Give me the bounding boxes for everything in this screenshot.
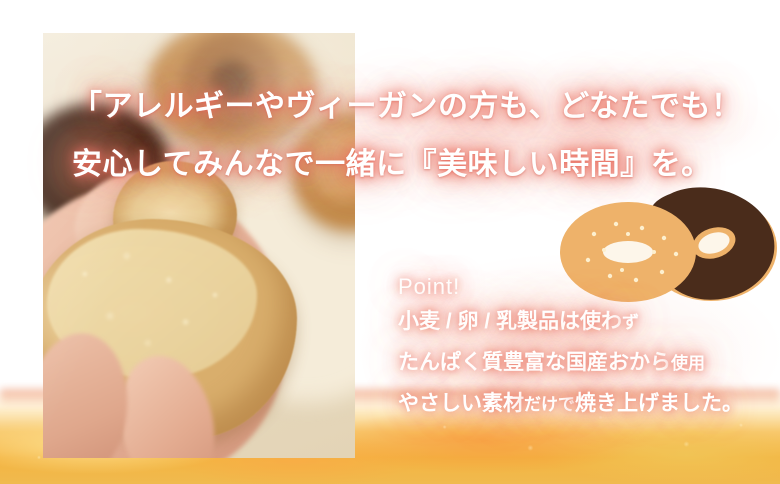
point-line-2: たんぱく質豊富な国産おから使用 — [398, 343, 780, 384]
headline: 「アレルギーやヴィーガンの方も、どなたでも！ 安心してみんなで一緒に『美味しい時… — [72, 78, 772, 194]
point-line-2-main: たんぱく質豊富な国産おから — [398, 351, 671, 374]
point-line-3: やさしい素材だけで焼き上げました。 — [398, 384, 780, 425]
promo-banner: 「アレルギーやヴィーガンの方も、どなたでも！ 安心してみんなで一緒に『美味しい時… — [0, 0, 780, 484]
point-line-3-tail: 焼き上げました。 — [575, 392, 743, 415]
headline-line-1: 「アレルギーやヴィーガンの方も、どなたでも！ — [72, 78, 772, 136]
point-line-3-small: だけで — [524, 395, 575, 414]
point-line-1: 小麦 / 卵 / 乳製品は使わず — [398, 302, 780, 343]
point-line-2-small: 使用 — [671, 354, 705, 373]
point-title: Point! — [398, 272, 780, 302]
point-line-1-main: 小麦 / 卵 / 乳製品は使わ — [398, 310, 622, 333]
point-line-1-small: ず — [622, 313, 639, 332]
point-line-3-main: やさしい素材 — [398, 392, 524, 415]
point-block: Point! 小麦 / 卵 / 乳製品は使わず たんぱく質豊富な国産おから使用 … — [398, 272, 780, 425]
